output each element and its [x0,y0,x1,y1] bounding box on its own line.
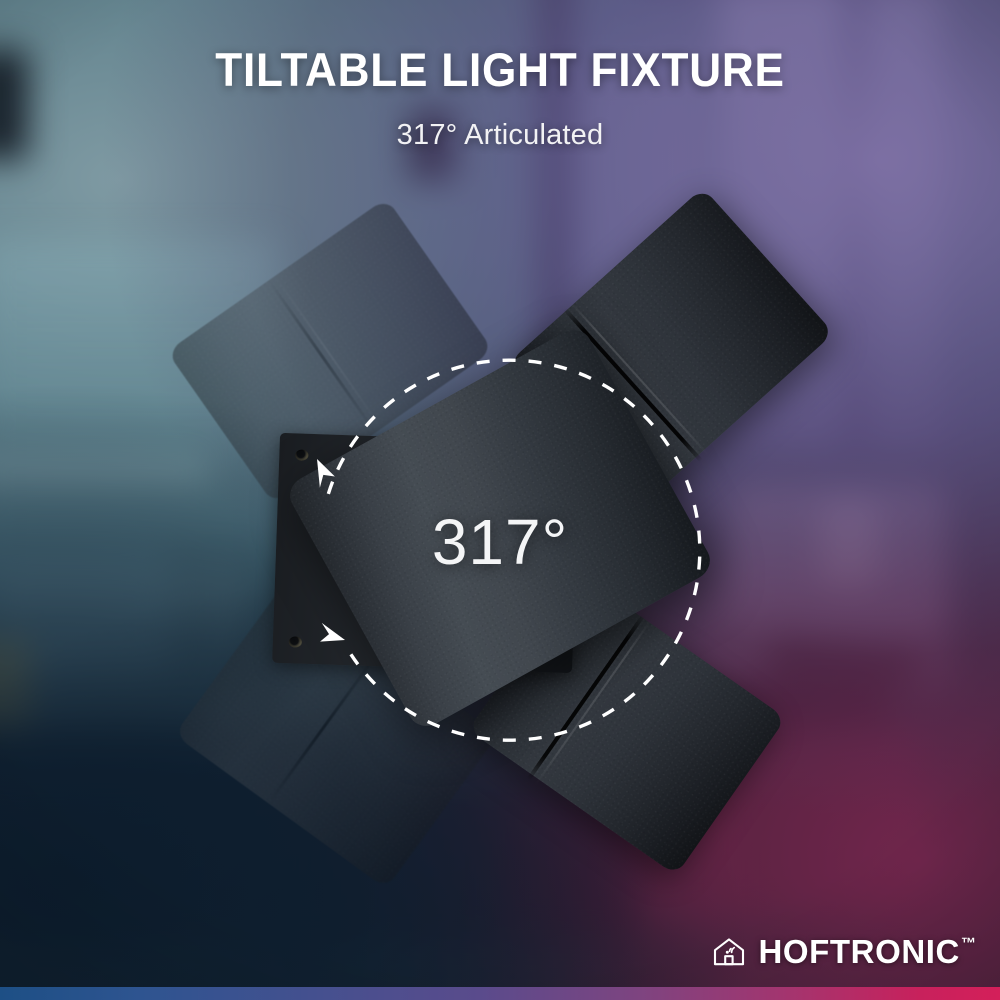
arrowhead-upper [306,459,338,491]
brand-name: HOFTRONIC [758,935,960,968]
page-title: TILTABLE LIGHT FIXTURE [30,46,970,93]
page-subtitle: 317° Articulated [0,119,1000,152]
accent-gradient-bar [0,987,1000,1000]
arrowhead-lower [314,617,345,648]
header: TILTABLE LIGHT FIXTURE 317° Articulated [0,46,1000,152]
angle-label: 317° [0,505,1000,579]
promo-banner: TILTABLE LIGHT FIXTURE 317° Articulated [0,0,1000,1000]
brand-logo: HOFTRONIC ™ [712,935,976,968]
house-wifi-icon [712,937,746,967]
brand-name-wrap: HOFTRONIC ™ [758,935,976,968]
trademark-symbol: ™ [961,936,976,951]
